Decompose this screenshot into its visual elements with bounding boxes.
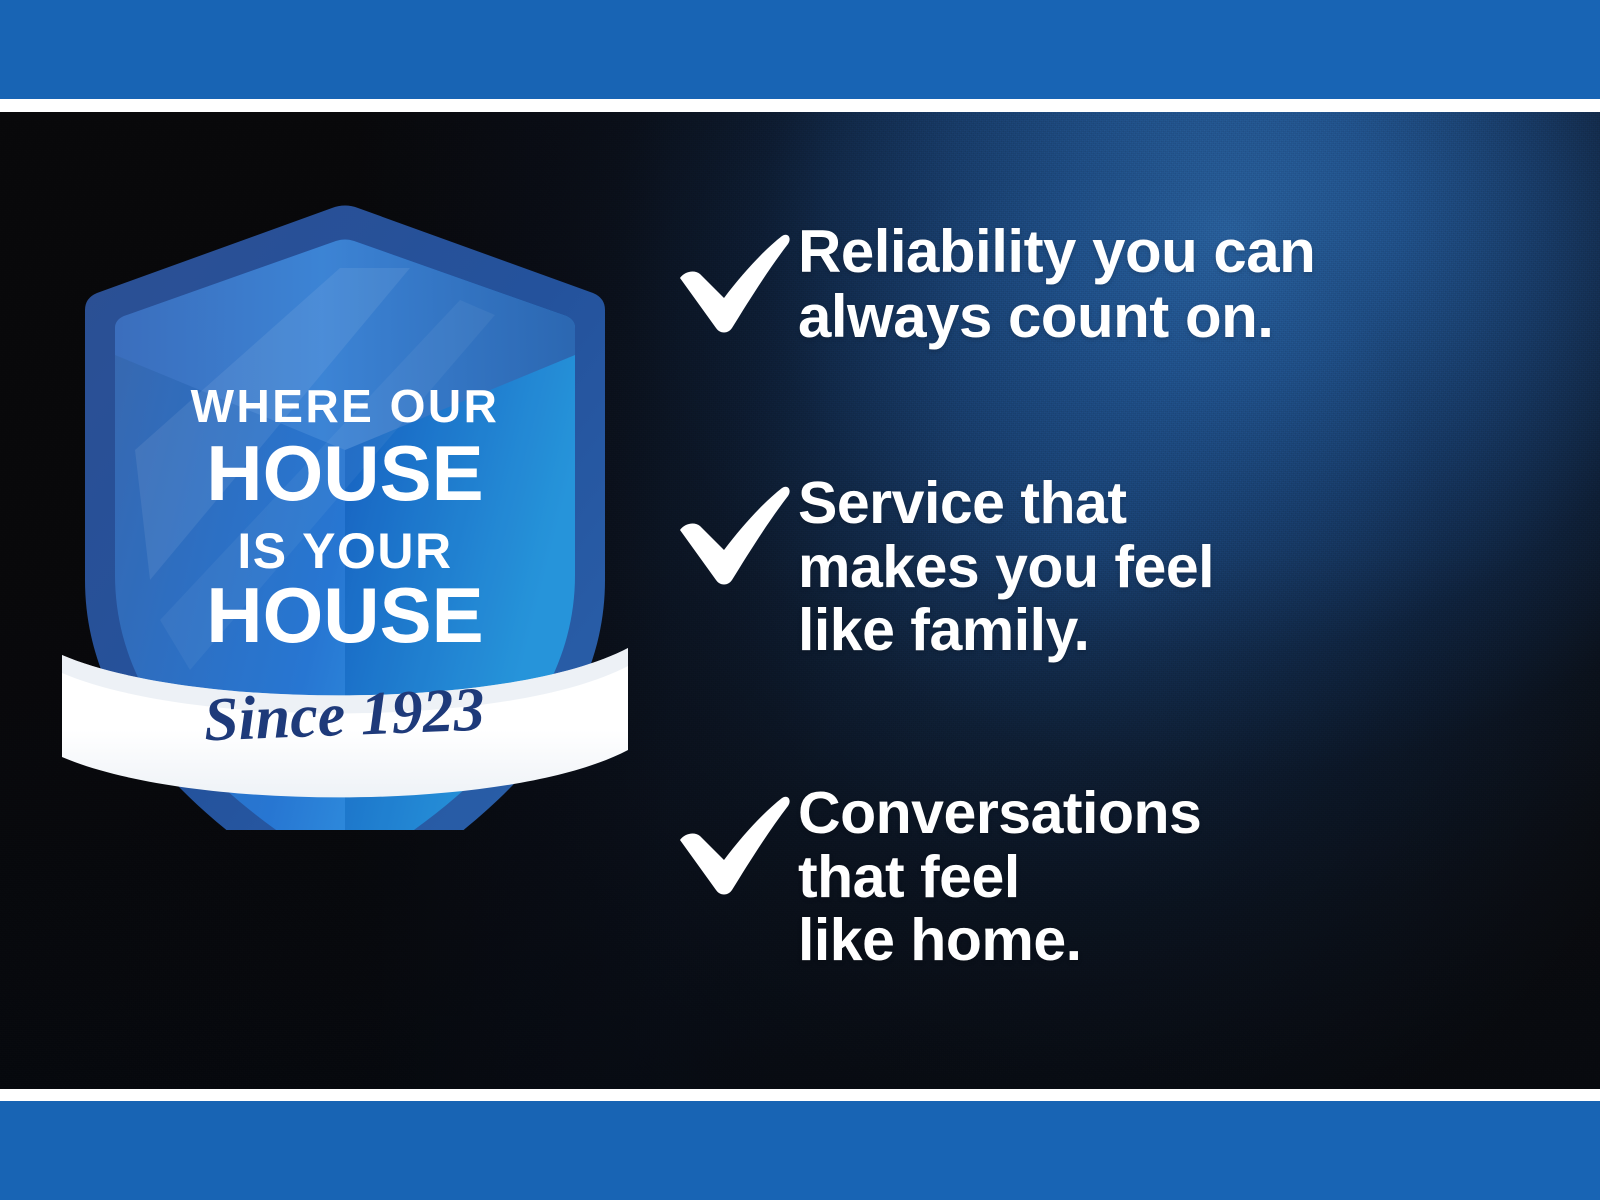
benefit-item: Service that makes you feel like family. [670, 472, 1214, 663]
benefit-text: Conversations that feel like home. [798, 782, 1201, 973]
benefit-item: Reliability you can always count on. [670, 220, 1315, 350]
checkmark-icon [670, 472, 798, 592]
benefits-list: Reliability you can always count on. Ser… [660, 112, 1520, 1089]
emblem-line-2: HOUSE [206, 429, 483, 517]
promo-graphic: WHERE OUR HOUSE IS YOUR HOUSE Since 1923… [0, 0, 1600, 1200]
bottom-brand-bar [0, 1101, 1600, 1200]
brand-emblem: WHERE OUR HOUSE IS YOUR HOUSE Since 1923 [40, 150, 640, 830]
emblem-line-4: HOUSE [206, 571, 483, 659]
banner-since-text: Since 1923 [203, 676, 486, 755]
benefit-text: Service that makes you feel like family. [798, 472, 1214, 663]
top-brand-bar [0, 0, 1600, 99]
emblem-line-1: WHERE OUR [191, 380, 500, 432]
benefit-item: Conversations that feel like home. [670, 782, 1201, 973]
checkmark-icon [670, 782, 798, 902]
benefit-text: Reliability you can always count on. [798, 220, 1315, 350]
checkmark-icon [670, 220, 798, 340]
